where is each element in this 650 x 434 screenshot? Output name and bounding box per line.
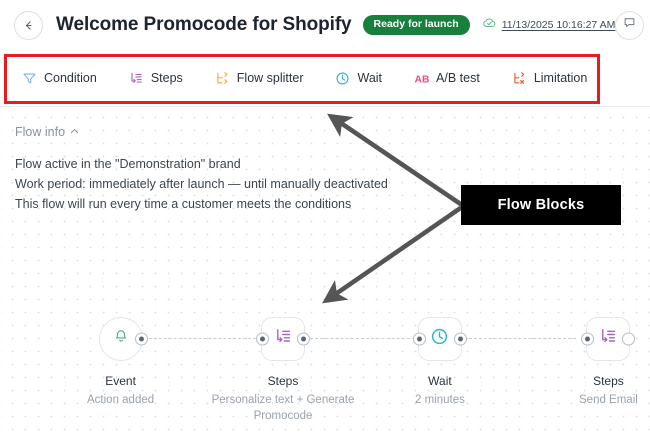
toolbar-label: Condition [44,71,97,85]
node-shape[interactable] [418,317,462,361]
bell-icon [112,328,130,351]
node-port-in[interactable] [581,333,594,346]
node-port-out[interactable] [622,333,635,346]
steps-icon [129,71,144,86]
app-header: Welcome Promocode for Shopify Ready for … [0,0,650,50]
node-port-out[interactable] [135,333,148,346]
flow-edge [305,338,415,339]
ab-test-icon: AB [414,71,429,86]
sync-status: 11/13/2025 10:16:27 AM [482,15,616,35]
arrow-left-icon [22,19,35,32]
toolbar-item-condition[interactable]: Condition [22,71,97,86]
comment-button[interactable] [615,11,644,40]
toolbar-label: A/B test [436,71,480,85]
steps-icon [274,327,293,351]
flow-blocks-annotation: Flow Blocks [461,185,621,225]
steps-icon [599,327,618,351]
toolbar-item-steps[interactable]: Steps [129,71,183,86]
flow-splitter-icon [215,71,230,86]
clock-icon [430,327,449,351]
toolbar-label: Steps [151,71,183,85]
node-port-in[interactable] [413,333,426,346]
flow-edge [459,338,576,339]
node-title: Steps [593,374,624,388]
toolbar-label: Wait [357,71,382,85]
status-badge[interactable]: Ready for launch [363,15,470,35]
toolbar-label: Flow splitter [237,71,304,85]
svg-text:AB: AB [415,74,430,85]
node-shape[interactable] [99,317,143,361]
toolbar-item-limitation[interactable]: Limitation [512,71,588,86]
node-subtitle: Send Email [579,392,638,408]
flow-node-steps-personalize[interactable]: Steps Personalize text + Generate Promoc… [261,317,305,424]
sync-timestamp[interactable]: 11/13/2025 10:16:27 AM [502,19,616,31]
blocks-toolbar: Condition Steps Flow spli [0,50,650,107]
toolbar-item-flow-splitter[interactable]: Flow splitter [215,71,304,86]
node-subtitle: Personalize text + Generate Promocode [198,392,368,424]
flow-blocks-annotation-label: Flow Blocks [498,197,585,213]
node-title: Wait [428,374,452,388]
node-title: Event [105,374,136,388]
node-subtitle: 2 minutes [415,392,465,408]
node-port-out[interactable] [454,333,467,346]
toolbar-item-wait[interactable]: Wait [335,71,382,86]
node-port-in[interactable] [256,333,269,346]
node-shape[interactable] [261,317,305,361]
flow-node-event[interactable]: Event Action added [87,317,154,408]
node-subtitle: Action added [87,392,154,408]
flow-node-wait[interactable]: Wait 2 minutes [415,317,465,408]
flow-builder-screen: Welcome Promocode for Shopify Ready for … [0,0,650,434]
toolbar-label: Limitation [534,71,588,85]
clock-icon [335,71,350,86]
flow-node-steps-send-email[interactable]: Steps Send Email [579,317,638,408]
cloud-check-icon [482,15,497,35]
comment-icon [623,16,636,34]
node-port-out[interactable] [297,333,310,346]
flow-node-graph: Event Action added Steps [0,107,650,434]
flow-canvas[interactable]: Flow info Flow active in the "Demonstrat… [0,107,650,434]
node-shape[interactable] [586,317,630,361]
funnel-icon [22,71,37,86]
back-button[interactable] [14,11,43,40]
node-title: Steps [268,374,299,388]
limitation-icon [512,71,527,86]
toolbar-item-ab-test[interactable]: AB A/B test [414,71,480,86]
page-title: Welcome Promocode for Shopify [56,14,352,36]
